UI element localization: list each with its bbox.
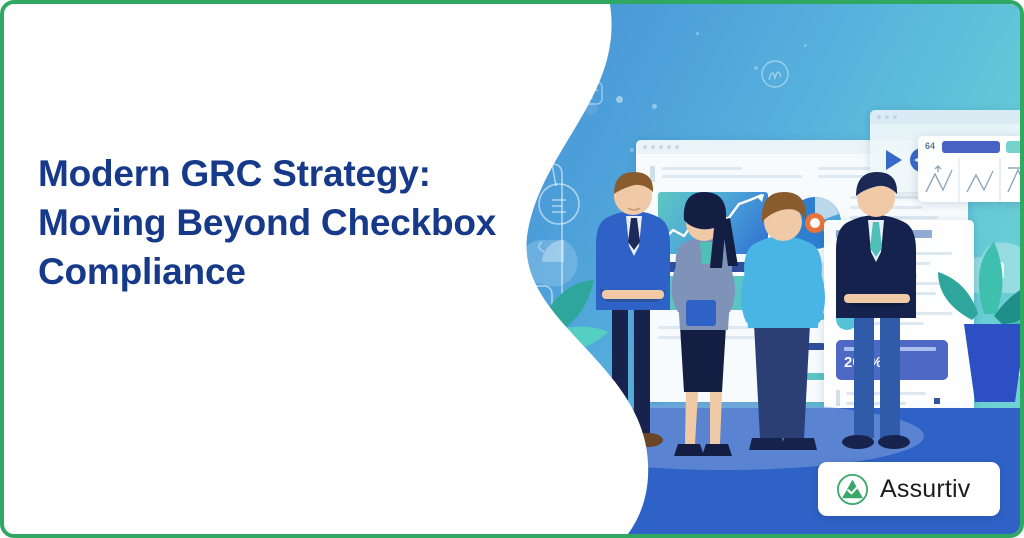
person-man-light-sweater xyxy=(741,192,825,450)
mountain-check-icon xyxy=(836,473,869,506)
headline-line-1: Modern GRC Strategy: xyxy=(38,150,578,199)
page-title: Modern GRC Strategy: Moving Beyond Check… xyxy=(38,150,578,296)
brand-logo[interactable]: Assurtiv xyxy=(818,462,1000,516)
promo-banner: 64 xyxy=(0,0,1024,538)
headline-line-2: Moving Beyond Checkbox xyxy=(38,199,578,248)
brand-name: Assurtiv xyxy=(880,475,971,504)
headline-line-3: Compliance xyxy=(38,248,578,297)
person-man-navy-suit xyxy=(836,172,916,449)
plant-right xyxy=(938,242,1020,402)
